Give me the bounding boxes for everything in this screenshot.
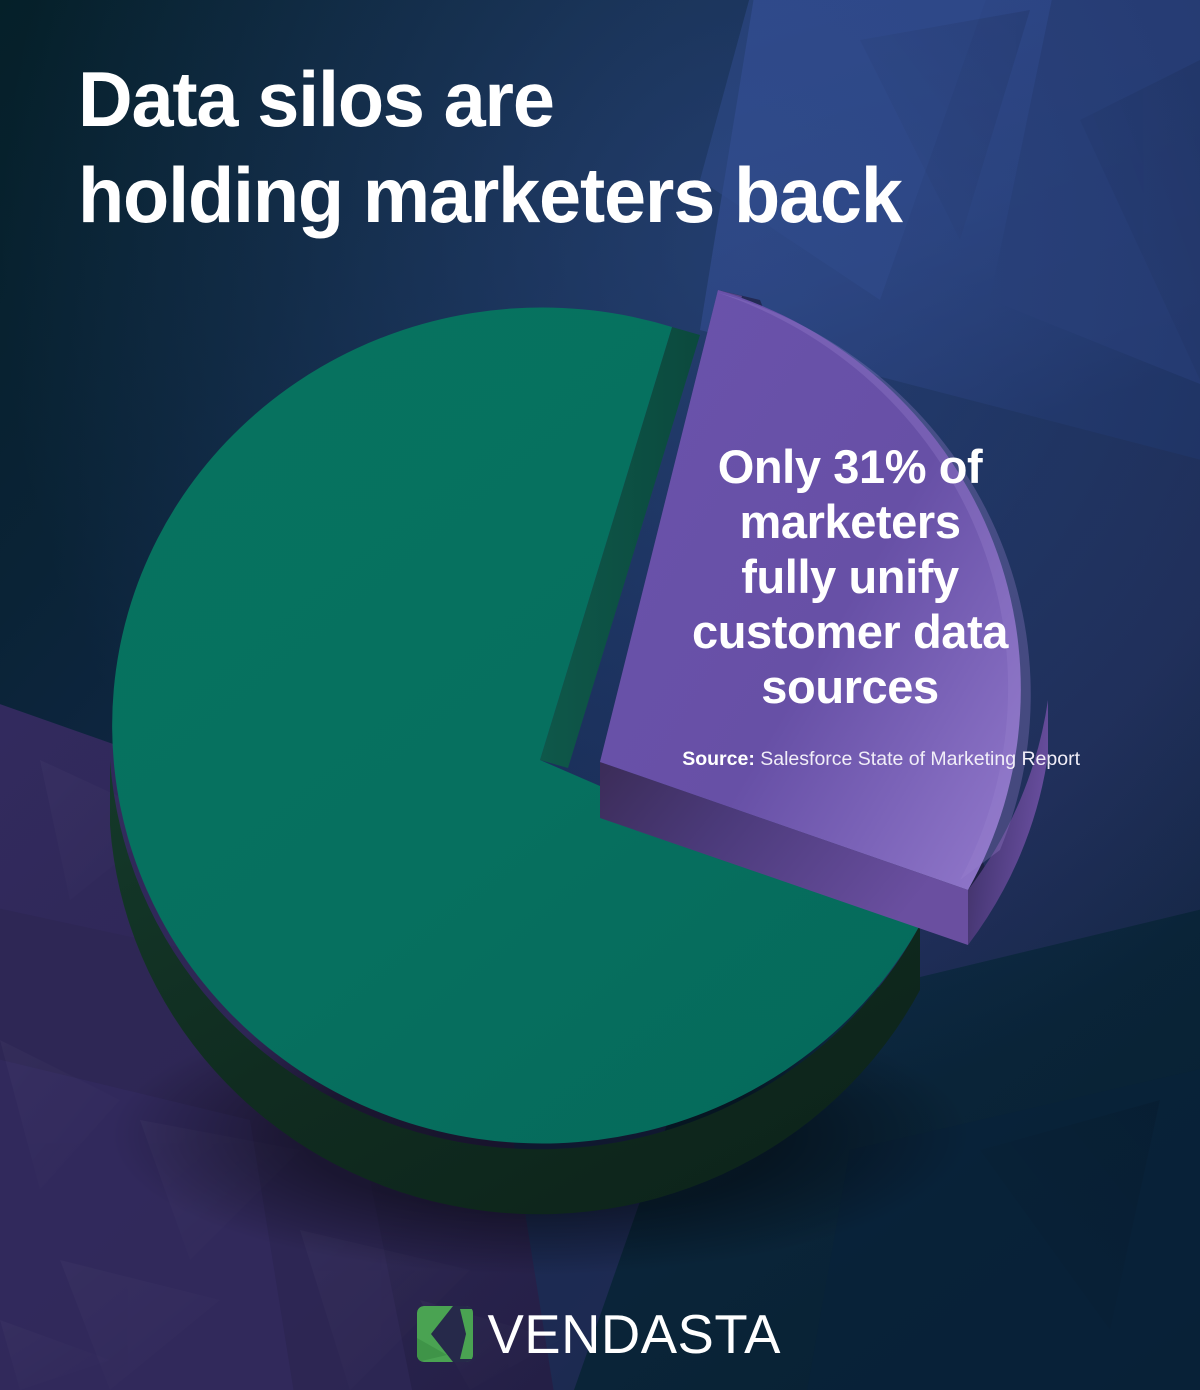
vendasta-chevron-icon [417,1306,473,1362]
headline: Data silos are holding marketers back [78,52,1138,244]
vendasta-logo: VENDASTA [0,1306,1200,1362]
headline-line-2: holding marketers back [78,148,1106,244]
source-label: Source: [682,748,755,770]
source-text: Salesforce State of Marketing Report [760,748,1080,770]
vendasta-wordmark: VENDASTA [488,1307,781,1362]
infographic-canvas: Data silos are holding marketers back [0,0,1200,1390]
source-attribution: Source: Salesforce State of Marketing Re… [560,748,1080,771]
headline-line-1: Data silos are [78,52,1106,148]
